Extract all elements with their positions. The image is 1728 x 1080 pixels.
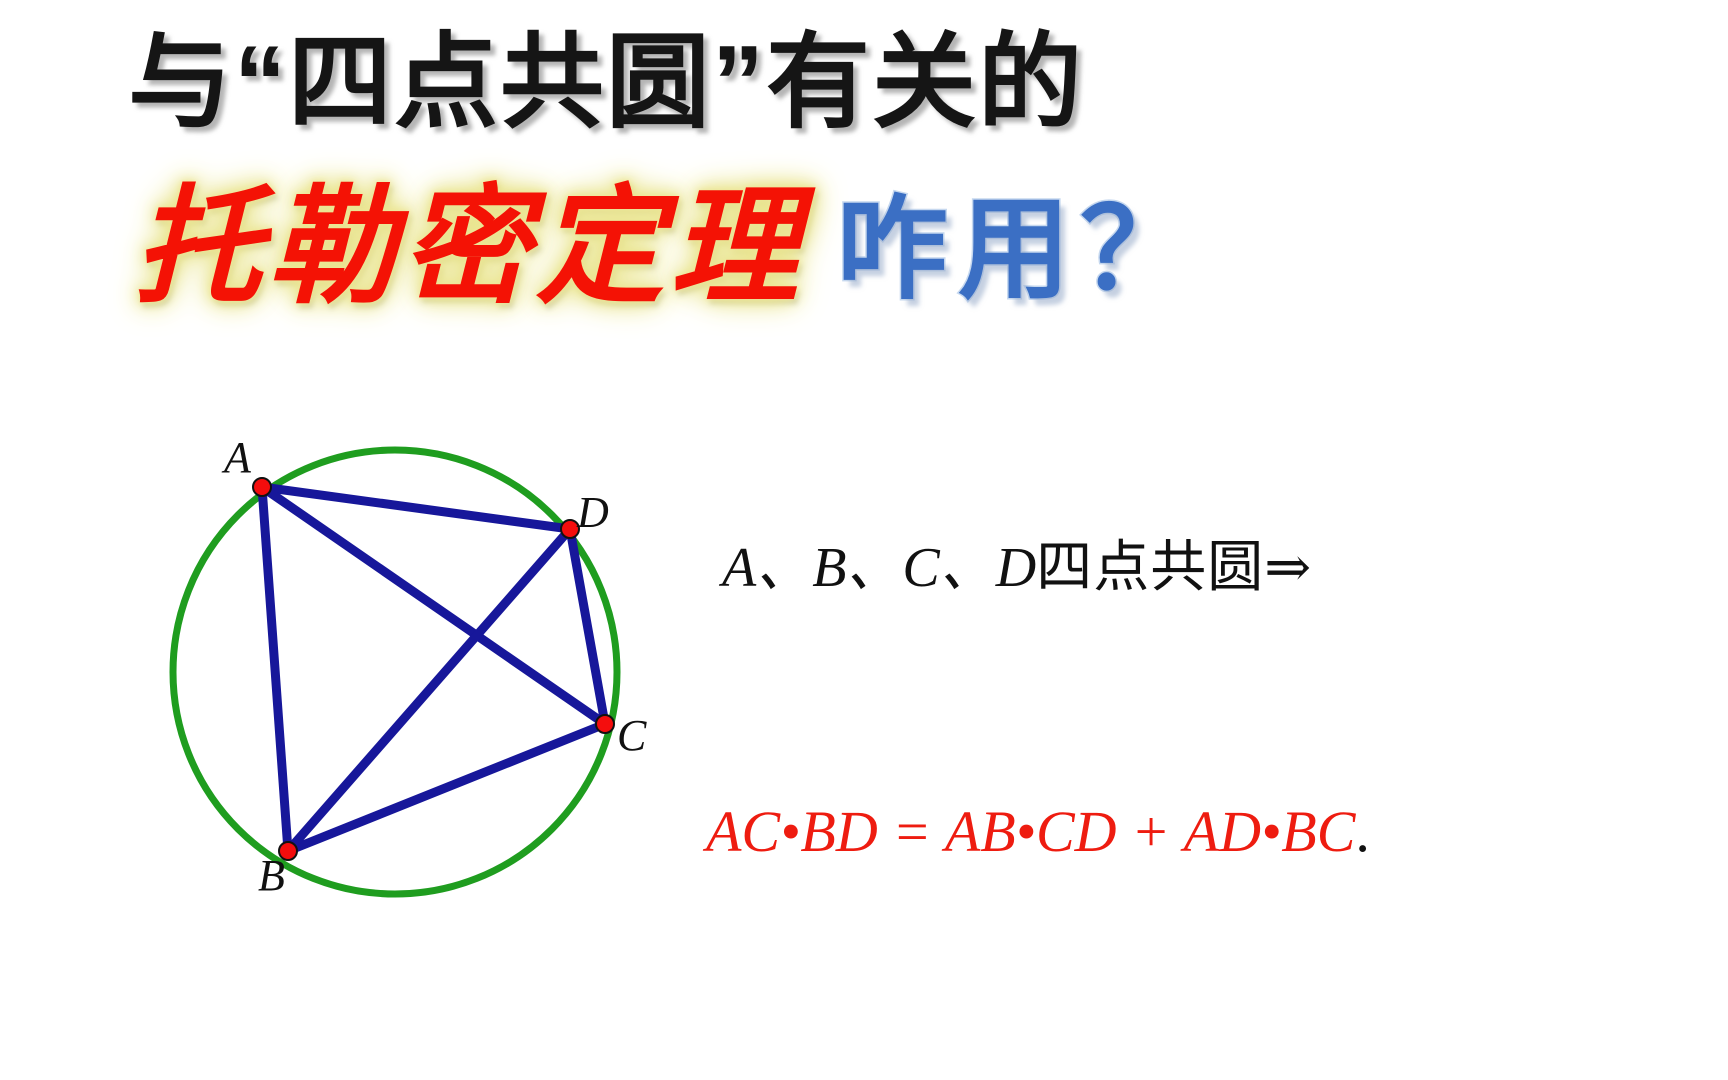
statement-points: A、B、C、D bbox=[722, 537, 1036, 599]
vertex-point-a bbox=[253, 478, 271, 496]
diagonal-BD bbox=[288, 529, 570, 851]
circumcircle bbox=[173, 450, 617, 894]
statement-text: 四点共圆 bbox=[1036, 537, 1264, 599]
vertex-point-c bbox=[596, 715, 614, 733]
concyclic-statement: A、B、C、D四点共圆⇒ bbox=[722, 522, 1312, 603]
title-theorem-name: 托勒密定理 bbox=[128, 178, 810, 319]
vertex-label-d: D bbox=[577, 487, 609, 538]
diagram-svg bbox=[140, 410, 700, 940]
ptolemy-equation: AC•BD = AB•CD + AD•BC. bbox=[706, 798, 1370, 865]
equation-body: AC•BD = AB•CD + AD•BC bbox=[706, 799, 1355, 864]
slide-canvas: 与“四点共圆”有关的 托勒密定理 咋用？ A D C B bbox=[0, 0, 1728, 1080]
vertex-label-b: B bbox=[258, 850, 285, 901]
implies-arrow-icon: ⇒ bbox=[1264, 537, 1312, 599]
cyclic-quadrilateral-diagram: A D C B bbox=[140, 410, 700, 940]
equation-period: . bbox=[1355, 799, 1370, 864]
title-subheading: 与“四点共圆”有关的 bbox=[128, 22, 1084, 145]
vertex-label-a: A bbox=[224, 432, 251, 483]
title-main-row: 托勒密定理 咋用？ bbox=[128, 178, 1202, 319]
vertex-label-c: C bbox=[617, 710, 646, 761]
segment-BA bbox=[262, 487, 288, 851]
title-question: 咋用？ bbox=[836, 188, 1202, 311]
segment-CB bbox=[288, 724, 605, 851]
